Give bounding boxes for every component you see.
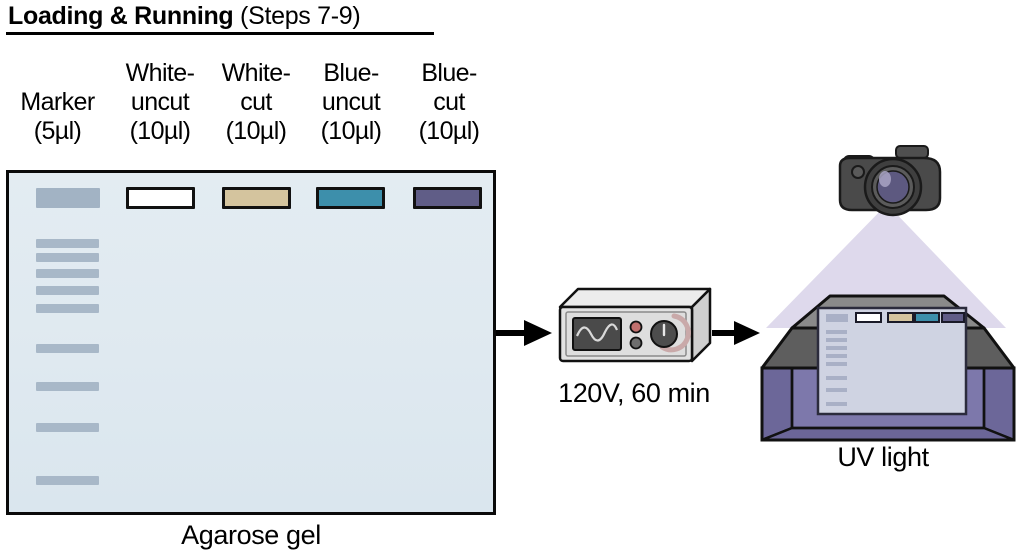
marker-ladder-band — [36, 344, 99, 353]
lane-label-blue-cut-volume: (10µl) — [399, 117, 499, 146]
power-supply-caption: 120V, 60 min — [528, 378, 740, 409]
uv-inner-gel — [818, 308, 966, 414]
lane-label-marker-volume: (5µl) — [0, 117, 115, 146]
marker-ladder-band — [36, 476, 99, 485]
marker-ladder-band — [36, 304, 99, 313]
lane-label-blue-uncut-name1: Blue- — [301, 59, 401, 88]
uv-floor — [762, 428, 1014, 440]
power-supply — [552, 285, 712, 370]
page-title-bold: Loading & Running — [8, 2, 233, 30]
marker-ladder-band — [36, 269, 99, 278]
lane-label-blue-uncut-volume: (10µl) — [301, 117, 401, 146]
lane-label-blue-uncut: Blue- uncut (10µl) — [301, 59, 401, 146]
uv-light-box — [748, 130, 1024, 445]
lane-label-blue-cut-name1: Blue- — [399, 59, 499, 88]
lane-label-white-uncut-volume: (10µl) — [106, 117, 214, 146]
page-title: Loading & Running (Steps 7-9) — [8, 2, 360, 31]
lane-label-white-cut-volume: (10µl) — [206, 117, 306, 146]
camera-icon — [840, 146, 940, 215]
lane-label-blue-cut-name2: cut — [399, 88, 499, 117]
marker-ladder-band — [36, 286, 99, 295]
agarose-gel — [6, 170, 496, 515]
lane-label-white-cut-name1: White- — [206, 59, 306, 88]
lane-label-blue-cut: Blue- cut (10µl) — [399, 59, 499, 146]
marker-well-band — [36, 188, 100, 208]
lane-label-white-cut: White- cut (10µl) — [206, 59, 306, 146]
lane-label-marker: Marker (5µl) — [0, 88, 115, 146]
well-blue-cut[interactable] — [413, 187, 482, 209]
title-underline — [6, 32, 434, 35]
uv-light-caption: UV light — [752, 442, 1014, 473]
gel-caption: Agarose gel — [6, 520, 496, 551]
arrow-gel-to-psu — [496, 317, 554, 349]
lane-label-marker-name: Marker — [0, 88, 115, 117]
marker-ladder-band — [36, 423, 99, 432]
page-title-steps: (Steps 7-9) — [233, 2, 360, 30]
lane-label-blue-uncut-name2: uncut — [301, 88, 401, 117]
lane-label-white-uncut-name1: White- — [106, 59, 214, 88]
marker-ladder-band — [36, 382, 99, 391]
marker-ladder-band — [36, 239, 99, 248]
lane-label-white-uncut-name2: uncut — [106, 88, 214, 117]
lane-label-white-uncut: White- uncut (10µl) — [106, 59, 214, 146]
well-white-cut[interactable] — [222, 187, 291, 209]
well-white-uncut[interactable] — [126, 187, 195, 209]
lane-label-white-cut-name2: cut — [206, 88, 306, 117]
well-blue-uncut[interactable] — [316, 187, 385, 209]
marker-ladder-band — [36, 253, 99, 262]
